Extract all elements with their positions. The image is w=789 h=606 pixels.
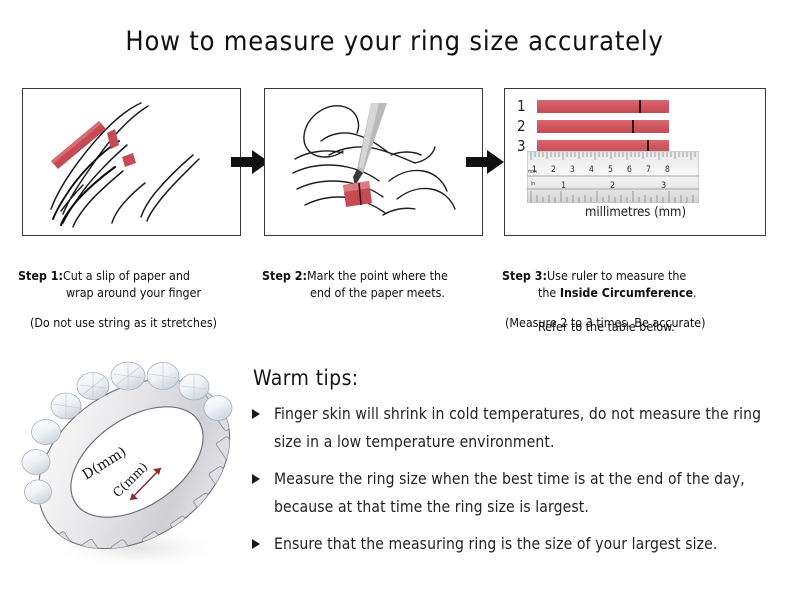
svg-text:4: 4 [589,165,594,175]
warm-tip-item: Ensure that the measuring ring is the si… [252,530,772,558]
warm-tip-item: Measure the ring size when the best time… [252,465,772,521]
strip-number: 2 [517,117,526,135]
step-3-label: Step 3: [502,268,547,283]
step-2-line1: Mark the point where the [307,268,448,283]
step-1-note: (Do not use string as it stretches) [30,315,217,330]
warm-tip-text: Finger skin will shrink in cold temperat… [274,405,761,451]
hand-marking-paper-icon [265,89,481,234]
arrow-step2-to-step3 [466,148,506,176]
paper-band-shape [343,181,372,207]
step-2-image-panel [264,88,483,236]
svg-text:7: 7 [646,165,651,175]
step-1-line2: wrap around your finger [18,284,253,301]
step-3-inside-circumference: Inside Circumference [560,285,693,300]
measured-strip-row: 2 [517,120,737,134]
strip-bar [537,120,669,133]
warm-tip-text: Ensure that the measuring ring is the si… [274,535,717,553]
warm-tips-list: Finger skin will shrink in cold temperat… [252,400,772,567]
step-3-note: (Measure 2 to 3 times. Be accurate) [505,315,706,330]
step-3-line1: Use ruler to measure the [547,268,686,283]
step-1-image-panel [22,88,241,236]
eternity-ring-icon: D(mm) C(mm) [18,352,250,580]
step-3-line2-post: . [693,285,697,300]
strip-mark [639,100,641,113]
ring-diagram: D(mm) C(mm) [18,352,250,580]
svg-text:1: 1 [561,181,566,191]
page-title: How to measure your ring size accurately [0,26,789,57]
step-1-label: Step 1: [18,268,63,283]
svg-text:5: 5 [608,165,613,175]
triangle-bullet-icon [252,474,260,484]
steps-panel-row: 1 2 3 [0,88,789,238]
step-1-line1: Cut a slip of paper and [63,268,190,283]
svg-text:3: 3 [570,165,575,175]
strip-number: 1 [517,97,526,115]
svg-text:2: 2 [610,181,615,191]
step-2-line2: end of the paper meets. [262,284,497,301]
warm-tip-item: Finger skin will shrink in cold temperat… [252,400,772,456]
step-3-caption: Step 3:Use ruler to measure the the Insi… [502,250,777,352]
step-3-line2-pre: the [538,285,560,300]
triangle-bullet-icon [252,409,260,419]
step-3-line2: the Inside Circumference. [502,284,777,301]
svg-text:mm: mm [528,169,537,175]
strip-bar [537,100,669,113]
measured-strip-row: 1 [517,100,737,114]
triangle-bullet-icon [252,539,260,549]
strip-mark [632,120,634,133]
svg-text:2: 2 [551,165,556,175]
step-2-label: Step 2: [262,268,307,283]
warm-tip-text: Measure the ring size when the best time… [274,470,745,516]
ruler-unit-caption: millimetres (mm) [585,205,686,220]
strip-number: 3 [517,137,526,155]
step-2-caption: Step 2:Mark the point where the end of t… [262,250,497,318]
step-3-image-panel: 1 2 3 [504,88,766,236]
step-1-caption: Step 1:Cut a slip of paper and wrap arou… [18,250,253,318]
svg-text:in: in [531,181,535,187]
warm-tips-heading: Warm tips: [253,366,359,390]
svg-text:3: 3 [661,181,666,191]
svg-text:6: 6 [627,165,632,175]
pen-shape [353,103,387,186]
ruler-graphic: 1 2 3 4 5 6 7 8 mm 1 2 3 in [527,151,699,199]
svg-text:8: 8 [665,165,670,175]
hand-with-paper-slip-icon [23,89,239,234]
